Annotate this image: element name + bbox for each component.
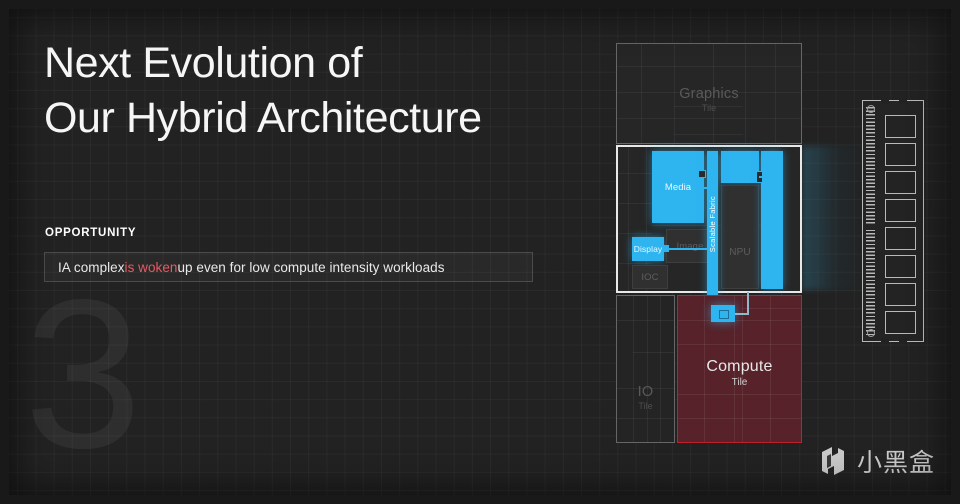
dimm-screw-bottom-icon	[867, 329, 875, 337]
media-block-label: Media	[652, 151, 704, 223]
dimm-chip	[885, 311, 916, 334]
slide-canvas: 3 Next Evolution of Our Hybrid Architect…	[0, 0, 960, 504]
soc-die-diagram: Graphics Tile Media Display Im	[616, 43, 802, 443]
compute-tile-floorplan	[678, 296, 801, 442]
right-edge-blue-bar	[761, 151, 783, 289]
dimm-notch-a	[881, 99, 889, 104]
dimm-contact-pins	[866, 107, 875, 335]
npu-block-label: NPU	[722, 186, 758, 288]
statement-highlight: is woken	[125, 260, 178, 275]
dimm-chip	[885, 115, 916, 138]
compute-tile[interactable]: Compute Tile	[677, 295, 802, 443]
soc-tile[interactable]: Media Display Image IOC NPU Scalable Fab…	[616, 145, 802, 293]
brand-name: 小黑盒	[857, 443, 935, 479]
memory-dimm[interactable]	[862, 100, 924, 342]
opportunity-statement: IA complex is woken up even for low comp…	[44, 252, 533, 282]
dimm-screw-top-icon	[867, 105, 875, 113]
media-block[interactable]: Media	[652, 151, 704, 223]
dimm-notch-b	[899, 99, 907, 104]
npu-block[interactable]: NPU	[721, 185, 759, 289]
scalable-fabric-bar[interactable]	[707, 151, 718, 297]
statement-prefix: IA complex	[58, 260, 125, 275]
dimm-chip	[885, 227, 916, 250]
dimm-pin-key-gap	[866, 225, 875, 230]
graphics-tile-floorplan	[617, 44, 801, 143]
display-fabric-wire	[664, 248, 708, 250]
brand-watermark: 小黑盒	[818, 443, 935, 479]
fabric-to-compute-wire-v	[747, 292, 749, 314]
opportunity-label: OPPORTUNITY	[45, 227, 136, 239]
io-tile-floorplan	[617, 296, 674, 442]
dimm-chip	[885, 283, 916, 306]
dimm-notch-c	[881, 338, 889, 343]
npu-right-wire	[759, 176, 763, 178]
compute-fabric-connector-icon	[711, 305, 735, 322]
display-block-label: Display	[632, 237, 664, 261]
page-title: Next Evolution of Our Hybrid Architectur…	[44, 36, 482, 146]
display-block[interactable]: Display	[632, 237, 664, 261]
io-tile[interactable]: IO Tile	[616, 295, 675, 443]
statement-suffix: up even for low compute intensity worklo…	[177, 260, 444, 275]
dimm-chip	[885, 143, 916, 166]
dimm-chip	[885, 199, 916, 222]
display-connector-stub	[664, 245, 669, 252]
npu-top-blue-block[interactable]	[721, 151, 759, 183]
media-fabric-connector-icon	[698, 170, 706, 178]
graphics-tile[interactable]: Graphics Tile	[616, 43, 802, 144]
dimm-notch-d	[899, 338, 907, 343]
dimm-chip	[885, 171, 916, 194]
media-fabric-wire	[704, 187, 708, 189]
slide-number-watermark: 3	[24, 268, 136, 480]
brand-logo-icon	[818, 445, 848, 477]
ioc-block-label: IOC	[633, 266, 667, 288]
dimm-chip	[885, 255, 916, 278]
ioc-block[interactable]: IOC	[632, 265, 668, 289]
